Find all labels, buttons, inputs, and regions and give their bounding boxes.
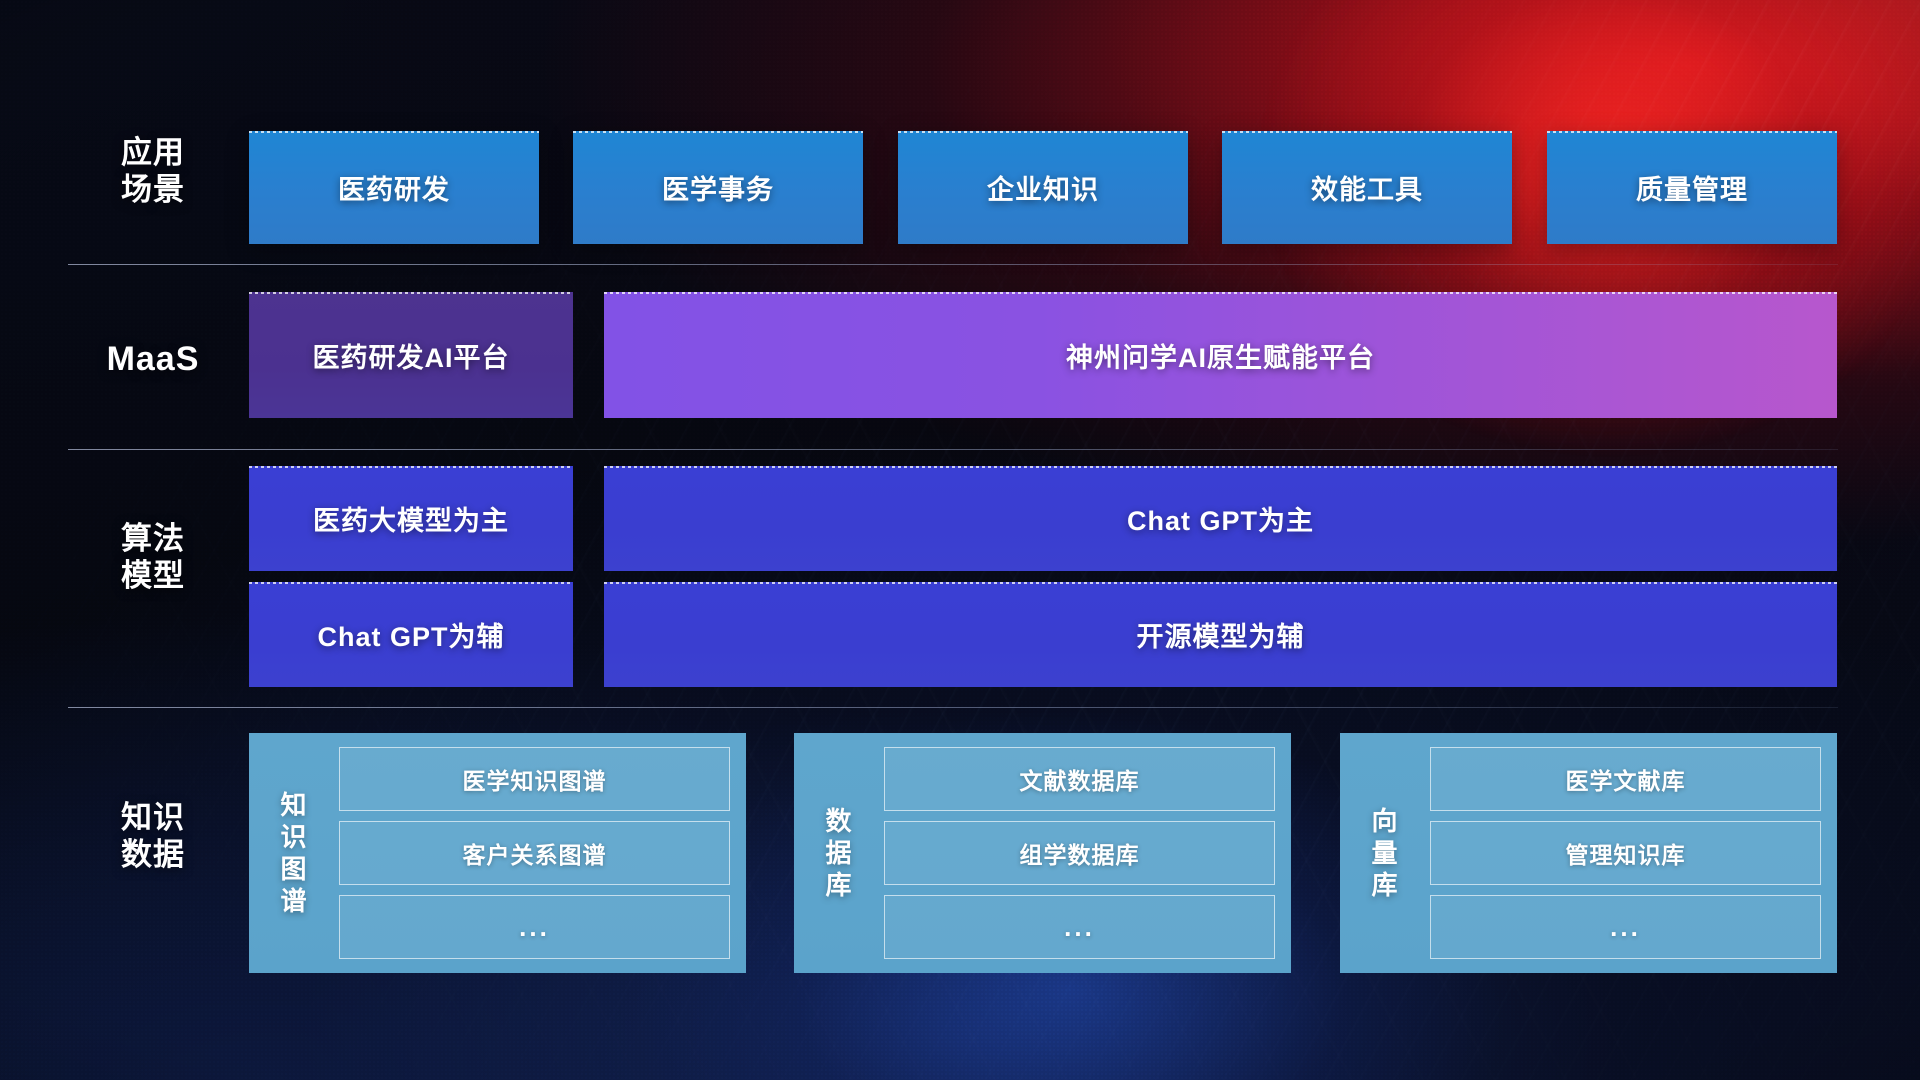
algo-box-chatgpt-aux[interactable]: Chat GPT为辅 bbox=[249, 582, 573, 687]
maas-box-shenzhou-platform[interactable]: 神州问学AI原生赋能平台 bbox=[604, 292, 1837, 418]
architecture-diagram: 应用 场景 医药研发 医学事务 企业知识 效能工具 质量管理 MaaS bbox=[0, 0, 1920, 1080]
app-scenario-label: 医药研发 bbox=[338, 168, 450, 207]
knowledge-item[interactable]: 客户关系图谱 bbox=[339, 821, 730, 885]
knowledge-item[interactable]: 文献数据库 bbox=[884, 747, 1275, 811]
slide-canvas: 应用 场景 医药研发 医学事务 企业知识 效能工具 质量管理 MaaS bbox=[0, 0, 1920, 1080]
knowledge-group-title-text: 数据库 bbox=[825, 805, 852, 902]
algo-label: 医药大模型为主 bbox=[313, 499, 509, 538]
knowledge-group-title: 数据库 bbox=[808, 747, 870, 959]
app-scenario-label: 医学事务 bbox=[662, 168, 774, 207]
knowledge-group-knowledge-graph[interactable]: 知识图谱 医学知识图谱 客户关系图谱 ... bbox=[249, 733, 746, 973]
row-label-maas: MaaS bbox=[68, 339, 238, 379]
app-scenario-box-5[interactable]: 质量管理 bbox=[1547, 131, 1837, 244]
knowledge-group-title: 向量库 bbox=[1354, 747, 1416, 959]
maas-label: 医药研发AI平台 bbox=[313, 336, 510, 375]
row-label-line: 模型 bbox=[68, 558, 238, 595]
row-label-line: 场景 bbox=[68, 172, 238, 209]
app-scenario-label: 质量管理 bbox=[1636, 168, 1748, 207]
row-label-algorithm-models: 算法 模型 bbox=[68, 521, 238, 594]
maas-box-pharma-platform[interactable]: 医药研发AI平台 bbox=[249, 292, 573, 418]
app-scenario-box-4[interactable]: 效能工具 bbox=[1222, 131, 1512, 244]
knowledge-item-list: 医学知识图谱 客户关系图谱 ... bbox=[339, 747, 730, 959]
knowledge-group-vector-store[interactable]: 向量库 医学文献库 管理知识库 ... bbox=[1340, 733, 1837, 973]
knowledge-item-label: ... bbox=[1064, 912, 1095, 943]
knowledge-item[interactable]: 医学知识图谱 bbox=[339, 747, 730, 811]
row-label-line: 知识 bbox=[68, 800, 238, 837]
knowledge-item-label: 医学文献库 bbox=[1566, 762, 1686, 796]
knowledge-item-label: ... bbox=[519, 912, 550, 943]
knowledge-group-title-text: 知识图谱 bbox=[280, 789, 307, 918]
knowledge-group-title-text: 向量库 bbox=[1371, 805, 1398, 902]
algo-label: Chat GPT为辅 bbox=[317, 615, 504, 654]
knowledge-item-label: 医学知识图谱 bbox=[463, 762, 607, 796]
algo-box-opensource-aux[interactable]: 开源模型为辅 bbox=[604, 582, 1837, 687]
knowledge-item-more[interactable]: ... bbox=[339, 895, 730, 959]
knowledge-item-more[interactable]: ... bbox=[884, 895, 1275, 959]
row-label-line: 算法 bbox=[68, 521, 238, 558]
app-scenario-box-2[interactable]: 医学事务 bbox=[573, 131, 863, 244]
row-label-line: MaaS bbox=[68, 339, 238, 379]
knowledge-item[interactable]: 组学数据库 bbox=[884, 821, 1275, 885]
maas-label: 神州问学AI原生赋能平台 bbox=[1066, 336, 1375, 375]
row-label-line: 数据 bbox=[68, 837, 238, 874]
knowledge-item-list: 文献数据库 组学数据库 ... bbox=[884, 747, 1275, 959]
algo-label: 开源模型为辅 bbox=[1137, 615, 1305, 654]
algo-box-pharma-main[interactable]: 医药大模型为主 bbox=[249, 466, 573, 571]
knowledge-item-label: 客户关系图谱 bbox=[463, 836, 607, 870]
app-scenario-label: 企业知识 bbox=[987, 168, 1099, 207]
knowledge-item[interactable]: 管理知识库 bbox=[1430, 821, 1821, 885]
app-scenario-box-3[interactable]: 企业知识 bbox=[898, 131, 1188, 244]
knowledge-item-label: ... bbox=[1610, 912, 1641, 943]
app-scenario-label: 效能工具 bbox=[1311, 168, 1423, 207]
row-label-line: 应用 bbox=[68, 135, 238, 172]
app-scenario-box-1[interactable]: 医药研发 bbox=[249, 131, 539, 244]
algo-box-chatgpt-main[interactable]: Chat GPT为主 bbox=[604, 466, 1837, 571]
knowledge-group-title: 知识图谱 bbox=[263, 747, 325, 959]
knowledge-group-database[interactable]: 数据库 文献数据库 组学数据库 ... bbox=[794, 733, 1291, 973]
knowledge-item-label: 组学数据库 bbox=[1020, 836, 1140, 870]
row-label-knowledge-data: 知识 数据 bbox=[68, 800, 238, 873]
knowledge-item-label: 管理知识库 bbox=[1566, 836, 1686, 870]
row-label-application-scenarios: 应用 场景 bbox=[68, 135, 238, 208]
divider-1 bbox=[68, 264, 1838, 265]
knowledge-item[interactable]: 医学文献库 bbox=[1430, 747, 1821, 811]
knowledge-item-list: 医学文献库 管理知识库 ... bbox=[1430, 747, 1821, 959]
knowledge-item-label: 文献数据库 bbox=[1020, 762, 1140, 796]
divider-3 bbox=[68, 707, 1838, 708]
divider-2 bbox=[68, 449, 1838, 450]
knowledge-item-more[interactable]: ... bbox=[1430, 895, 1821, 959]
algo-label: Chat GPT为主 bbox=[1127, 499, 1314, 538]
